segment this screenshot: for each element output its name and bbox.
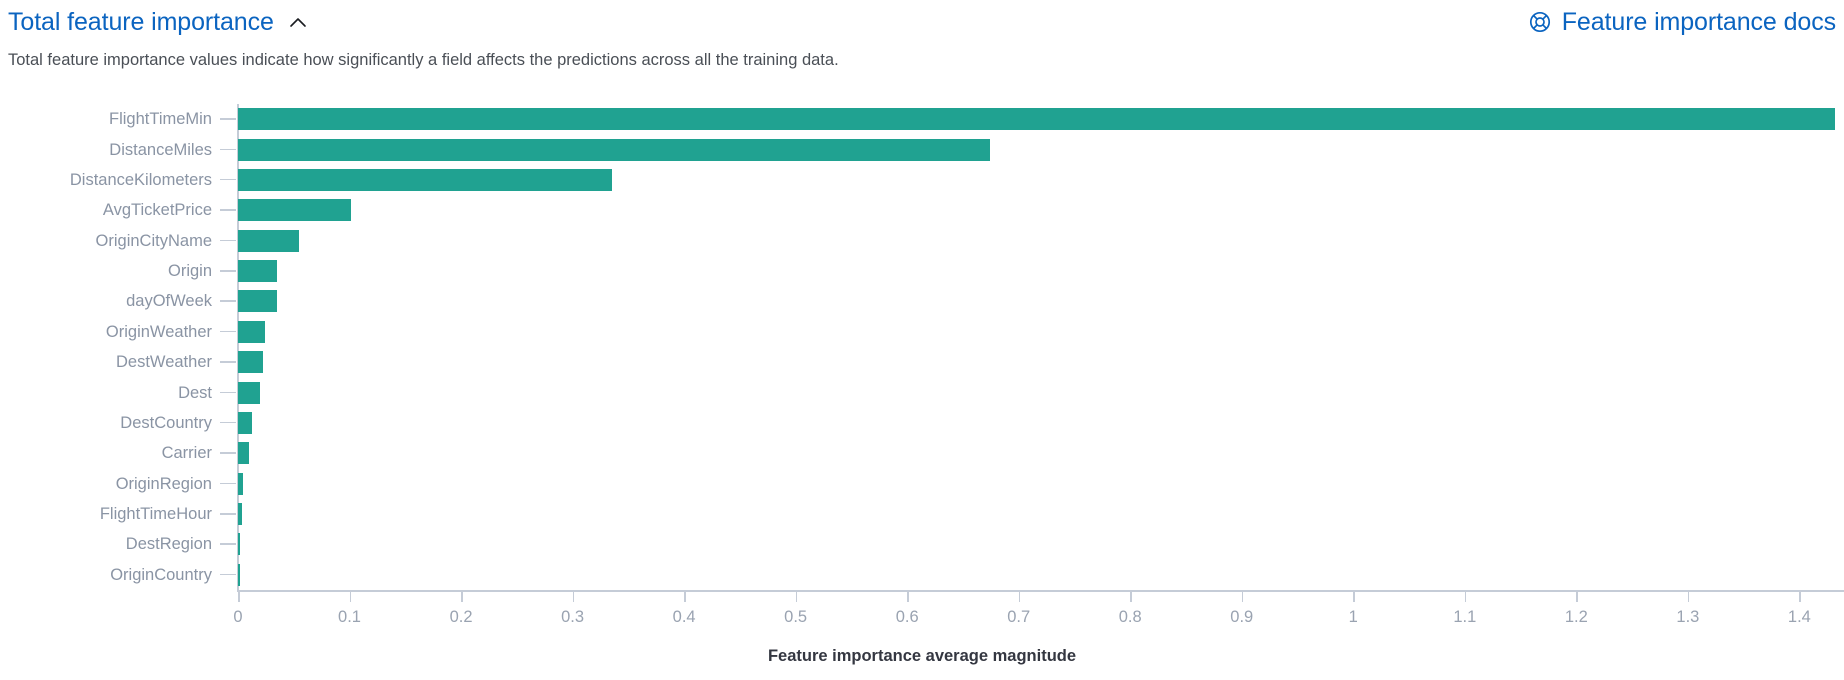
y-tick-mark	[220, 422, 236, 424]
bar-rect[interactable]	[238, 412, 252, 434]
bar-category-label: Dest	[178, 378, 212, 408]
x-tick-label: 0.7	[1007, 608, 1030, 627]
x-axis-title: Feature importance average magnitude	[0, 647, 1844, 666]
y-tick-mark	[220, 361, 236, 363]
x-tick-label: 0.2	[450, 608, 473, 627]
x-tick-label: 0.4	[673, 608, 696, 627]
x-tick-mark	[238, 590, 240, 602]
x-axis-line	[237, 590, 1844, 592]
y-tick-mark	[220, 270, 236, 272]
y-tick-mark	[220, 483, 236, 485]
bar-category-label: FlightTimeHour	[100, 499, 212, 529]
x-tick-label: 0.3	[561, 608, 584, 627]
bar-rect[interactable]	[238, 139, 990, 161]
x-tick-mark	[1465, 590, 1467, 602]
x-tick-label: 0	[233, 608, 242, 627]
x-tick-label: 1.2	[1565, 608, 1588, 627]
x-tick-label: 0.8	[1119, 608, 1142, 627]
bar-category-label: DistanceMiles	[109, 135, 212, 165]
bar-category-label: OriginWeather	[106, 317, 212, 347]
bar-row[interactable]: Origin	[238, 256, 1844, 286]
x-tick-mark	[1019, 590, 1021, 602]
feature-importance-docs-link[interactable]: Feature importance docs	[1528, 8, 1836, 37]
chevron-up-icon[interactable]	[286, 11, 310, 35]
x-tick-mark	[350, 590, 352, 602]
bar-category-label: DestRegion	[126, 529, 212, 559]
bar-category-label: dayOfWeek	[126, 286, 212, 316]
bar-rect[interactable]	[238, 321, 265, 343]
bar-rect[interactable]	[238, 351, 263, 373]
y-tick-mark	[220, 452, 236, 454]
bar-category-label: DistanceKilometers	[70, 165, 212, 195]
bar-rect[interactable]	[238, 108, 1835, 130]
bar-rect[interactable]	[238, 503, 242, 525]
y-tick-mark	[220, 392, 236, 394]
y-tick-mark	[220, 543, 236, 545]
bar-category-label: DestWeather	[116, 347, 212, 377]
page-title: Total feature importance	[8, 7, 274, 37]
bar-rect[interactable]	[238, 533, 240, 555]
bar-category-label: Carrier	[162, 438, 212, 468]
bar-rect[interactable]	[238, 564, 240, 586]
x-tick-mark	[1799, 590, 1801, 602]
bar-category-label: Origin	[168, 256, 212, 286]
y-tick-mark	[220, 118, 236, 120]
bar-row[interactable]: FlightTimeHour	[238, 499, 1844, 529]
panel-description: Total feature importance values indicate…	[8, 48, 839, 72]
x-tick-mark	[1242, 590, 1244, 602]
bar-row[interactable]: Dest	[238, 378, 1844, 408]
bar-row[interactable]: OriginWeather	[238, 317, 1844, 347]
y-tick-mark	[220, 574, 236, 576]
bar-row[interactable]: DestWeather	[238, 347, 1844, 377]
y-tick-mark	[220, 240, 236, 242]
bar-category-label: OriginCountry	[110, 560, 212, 590]
x-tick-mark	[573, 590, 575, 602]
docs-link-label: Feature importance docs	[1562, 8, 1836, 37]
x-tick-mark	[684, 590, 686, 602]
bar-rect[interactable]	[238, 169, 612, 191]
feature-importance-chart: FlightTimeMinDistanceMilesDistanceKilome…	[0, 96, 1844, 680]
bar-category-label: OriginRegion	[116, 469, 212, 499]
y-tick-mark	[220, 149, 236, 151]
y-tick-mark	[220, 331, 236, 333]
x-tick-label: 0.6	[896, 608, 919, 627]
bar-row[interactable]: dayOfWeek	[238, 286, 1844, 316]
y-tick-mark	[220, 209, 236, 211]
bar-row[interactable]: DestRegion	[238, 529, 1844, 559]
bar-category-label: AvgTicketPrice	[103, 195, 212, 225]
x-tick-mark	[1130, 590, 1132, 602]
x-tick-label: 1.4	[1788, 608, 1811, 627]
bar-rect[interactable]	[238, 199, 351, 221]
y-tick-mark	[220, 300, 236, 302]
bar-rect[interactable]	[238, 230, 299, 252]
bar-row[interactable]: DistanceKilometers	[238, 165, 1844, 195]
bar-rect[interactable]	[238, 442, 249, 464]
chart-plot-area: FlightTimeMinDistanceMilesDistanceKilome…	[238, 104, 1844, 590]
y-tick-mark	[220, 513, 236, 515]
x-tick-mark	[1576, 590, 1578, 602]
bar-row[interactable]: FlightTimeMin	[238, 104, 1844, 134]
x-tick-mark	[1353, 590, 1355, 602]
x-tick-label: 1.1	[1453, 608, 1476, 627]
bar-row[interactable]: AvgTicketPrice	[238, 195, 1844, 225]
bar-row[interactable]: OriginCountry	[238, 560, 1844, 590]
x-tick-label: 0.1	[338, 608, 361, 627]
x-tick-mark	[796, 590, 798, 602]
bar-category-label: FlightTimeMin	[109, 104, 212, 134]
panel-header: Total feature importance Feature importa…	[0, 0, 1844, 44]
x-tick-mark	[461, 590, 463, 602]
x-tick-label: 0.5	[784, 608, 807, 627]
bar-rect[interactable]	[238, 382, 260, 404]
bar-row[interactable]: OriginCityName	[238, 226, 1844, 256]
bar-rect[interactable]	[238, 473, 243, 495]
bar-row[interactable]: Carrier	[238, 438, 1844, 468]
x-tick-mark	[907, 590, 909, 602]
bar-row[interactable]: DistanceMiles	[238, 135, 1844, 165]
lifebuoy-icon	[1528, 10, 1552, 34]
bar-row[interactable]: OriginRegion	[238, 469, 1844, 499]
bar-rect[interactable]	[238, 290, 277, 312]
panel-title-toggle[interactable]: Total feature importance	[8, 7, 310, 37]
x-tick-label: 1	[1349, 608, 1358, 627]
bar-category-label: DestCountry	[120, 408, 212, 438]
bar-rect[interactable]	[238, 260, 277, 282]
bar-row[interactable]: DestCountry	[238, 408, 1844, 438]
x-tick-label: 1.3	[1676, 608, 1699, 627]
bar-category-label: OriginCityName	[96, 226, 212, 256]
x-tick-mark	[1688, 590, 1690, 602]
y-tick-mark	[220, 179, 236, 181]
x-tick-label: 0.9	[1230, 608, 1253, 627]
